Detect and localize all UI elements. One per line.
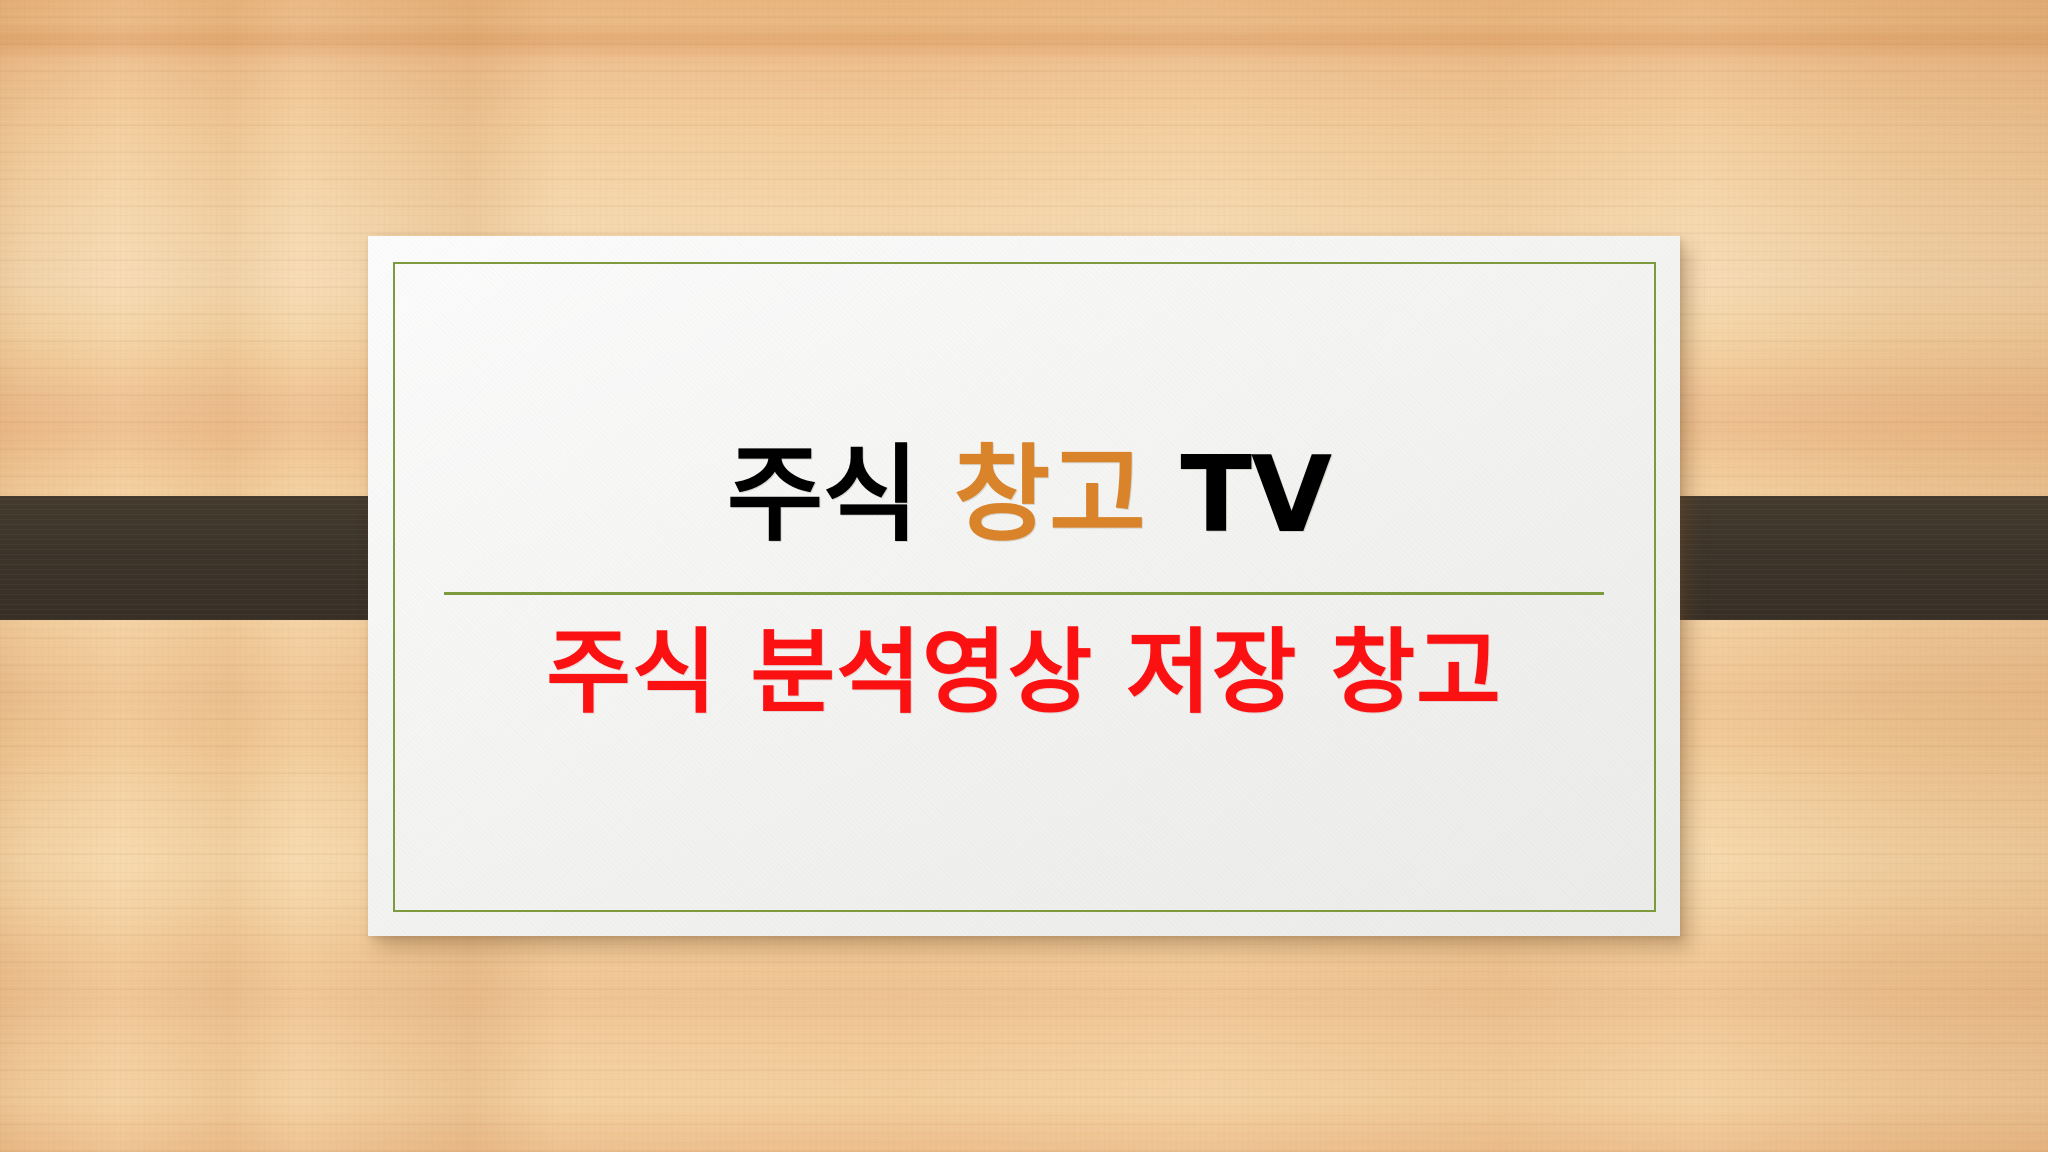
title-part-tv: TV — [1180, 434, 1331, 556]
title-card: 주식 창고 TV 주식 분석영상 저장 창고 — [368, 236, 1680, 936]
page-title: 주식 창고 TV — [727, 443, 1331, 548]
title-part-warehouse: 창고 — [954, 434, 1145, 556]
ribbon-band-left — [0, 496, 418, 620]
title-part-stock: 주식 — [727, 434, 918, 556]
title-divider — [444, 592, 1604, 595]
title-slide: 주식 창고 TV 주식 분석영상 저장 창고 — [0, 0, 2048, 1152]
ribbon-band-right — [1630, 496, 2048, 620]
page-subtitle: 주식 분석영상 저장 창고 — [546, 625, 1502, 722]
card-text-block: 주식 창고 TV 주식 분석영상 저장 창고 — [368, 236, 1680, 936]
